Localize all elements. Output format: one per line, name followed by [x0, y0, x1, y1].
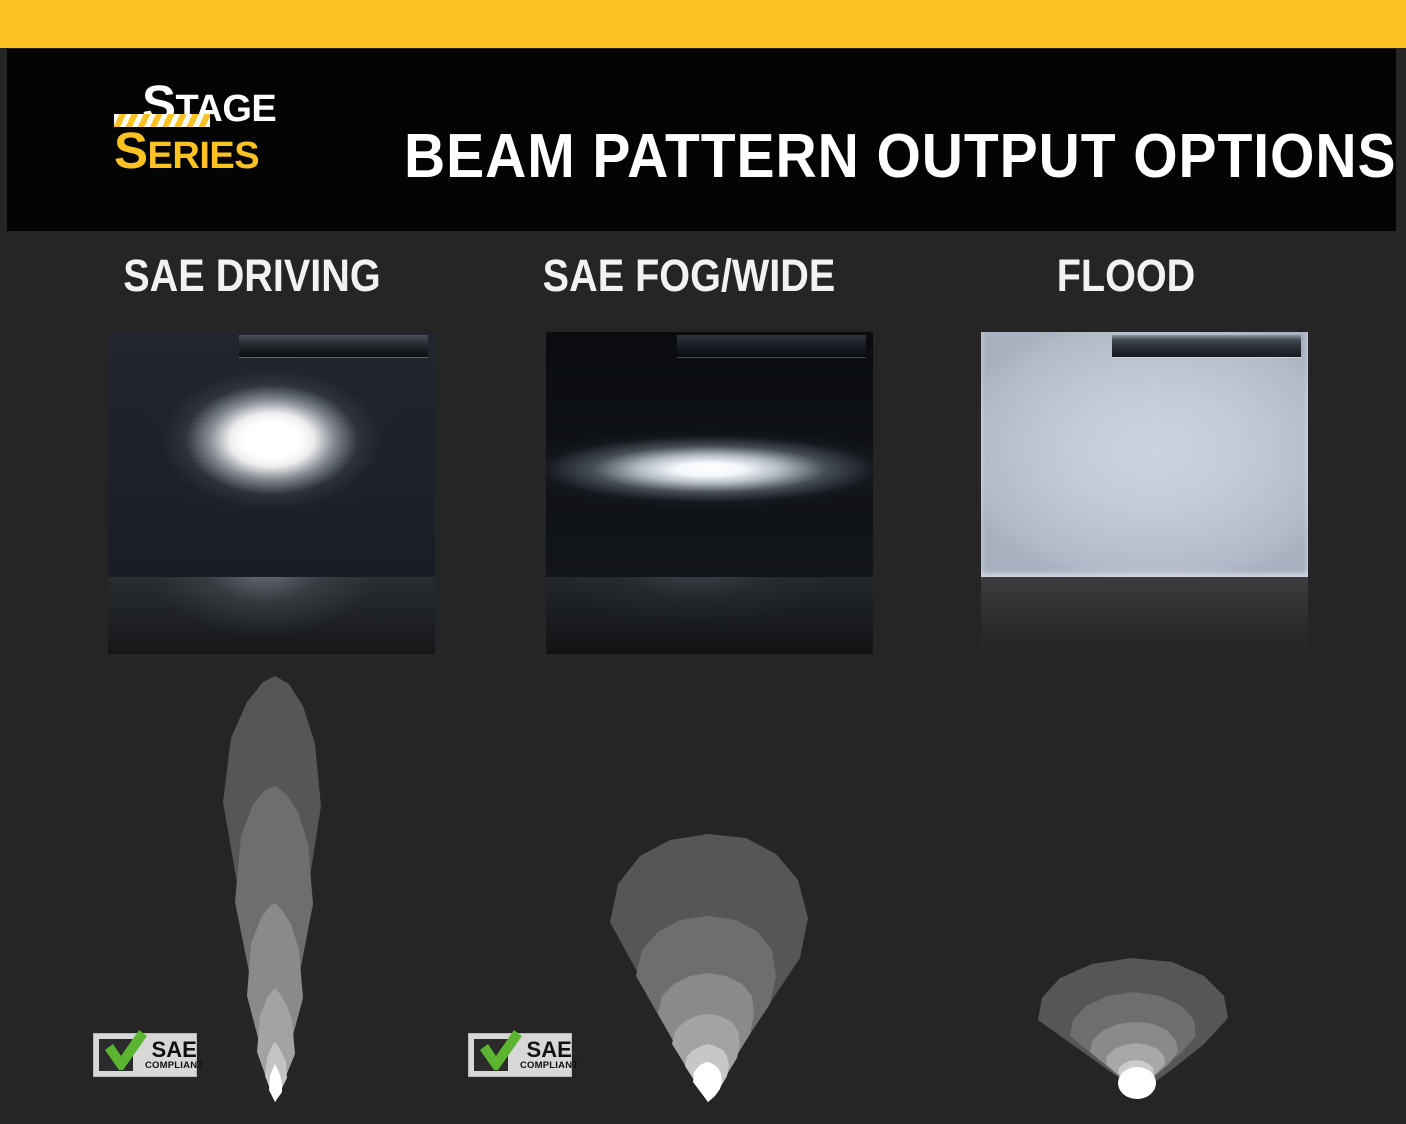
top-accent-bar [0, 0, 1406, 48]
sae-compliant-badge: SAE COMPLIANT [468, 1033, 572, 1077]
check-icon [101, 1030, 147, 1072]
page-title: BEAM PATTERN OUTPUT OPTIONS [404, 118, 1273, 196]
badge-sae-label: SAE [152, 1040, 197, 1060]
logo-series-wordmark: SERIES [114, 125, 259, 182]
photo-ceiling-pipe [1112, 335, 1302, 358]
beam-diagram-flood [1008, 948, 1248, 1106]
badge-compliant-label: COMPLIANT [520, 1060, 578, 1071]
column-heading: FLOOD [937, 248, 1315, 304]
logo-series-initial: S [114, 122, 148, 179]
badge-sae-label: SAE [527, 1040, 572, 1060]
badge-checkbox [474, 1039, 508, 1071]
photo-wall [546, 332, 873, 577]
badge-checkbox [99, 1039, 133, 1071]
beam-photo-sae-fog-wide [546, 332, 873, 654]
hazard-stripe-icon [114, 114, 210, 127]
photo-ceiling-pipe [677, 335, 867, 358]
column-sae-fog-wide: SAE FOG/WIDE [474, 248, 904, 304]
sae-compliant-badge: SAE COMPLIANT [93, 1033, 197, 1077]
photo-wall [108, 332, 435, 577]
photo-wall [981, 332, 1308, 577]
poster-root: STAGE SERIES BEAM PATTERN OUTPUT OPTIONS… [0, 0, 1406, 1124]
logo-series-rest: ERIES [148, 135, 260, 177]
photo-floor [981, 577, 1308, 654]
beam-photo-sae-driving [108, 332, 435, 654]
photo-ceiling-pipe [239, 335, 429, 358]
check-icon [476, 1030, 522, 1072]
beam-diagram-sae-driving [205, 672, 345, 1102]
beam-layer-hotspot [693, 1062, 722, 1102]
beam-layer-hotspot [1118, 1067, 1156, 1099]
beam-photo-flood [981, 332, 1308, 654]
column-heading: SAE DRIVING [63, 248, 441, 304]
photo-floor [546, 577, 873, 654]
column-sae-driving: SAE DRIVING [37, 248, 467, 304]
badge-compliant-label: COMPLIANT [145, 1060, 203, 1071]
photo-floor [108, 577, 435, 654]
beam-diagram-sae-fog-wide [596, 826, 826, 1102]
column-flood: FLOOD [911, 248, 1341, 304]
column-heading: SAE FOG/WIDE [500, 248, 878, 304]
stage-series-logo: STAGE SERIES [108, 78, 353, 188]
